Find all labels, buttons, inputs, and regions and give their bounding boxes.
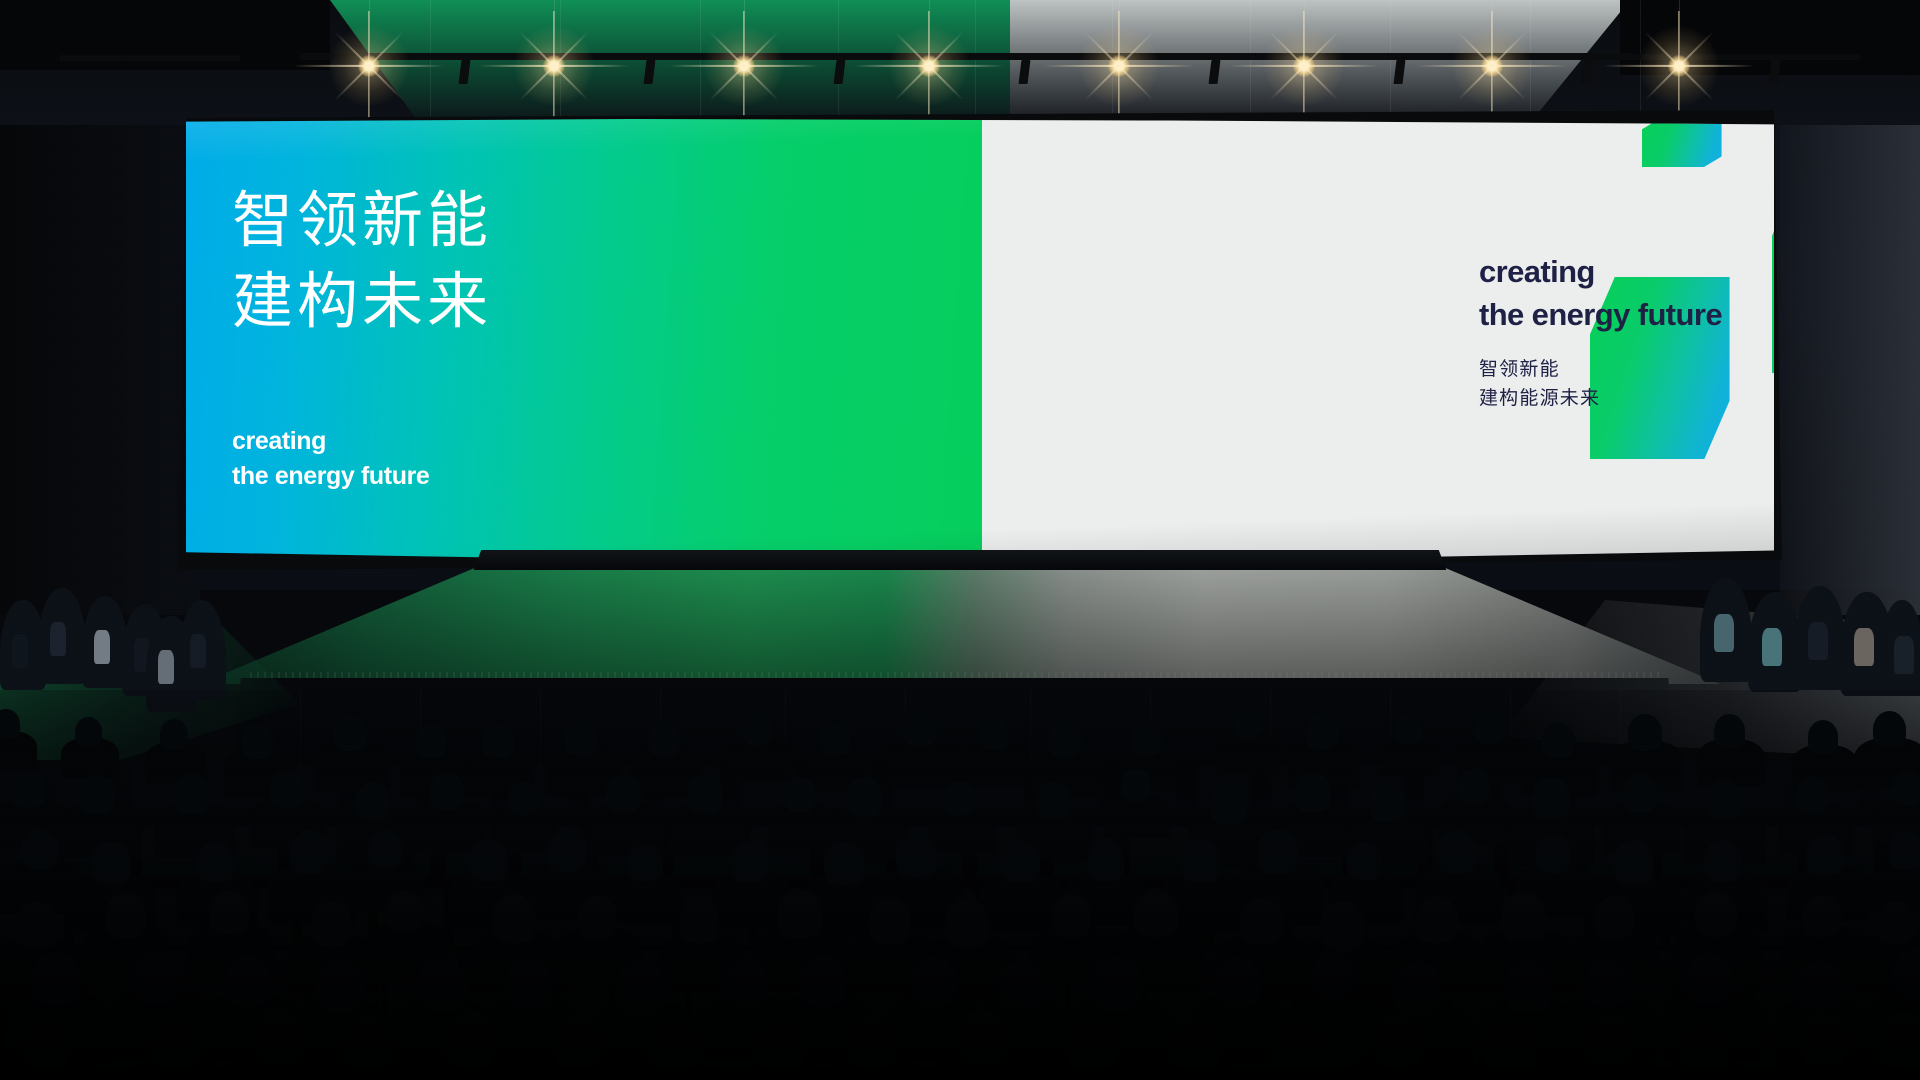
audience-head (1706, 779, 1742, 819)
audience-head (429, 772, 464, 811)
audience-head (777, 889, 822, 938)
audience-head (755, 1022, 804, 1076)
audience-head (1347, 842, 1382, 881)
left-headline-line2: 建构未来 (232, 262, 492, 343)
audience-head (547, 829, 586, 872)
right-panel-copy: creating the energy future 智领新能 建构能源未来 (1479, 251, 1722, 413)
guest-shirt (190, 634, 206, 668)
audience-head (342, 1016, 394, 1073)
audience-head (1798, 961, 1842, 1009)
audience-head (75, 717, 101, 746)
guest-shirt (1808, 622, 1828, 660)
guest-shirt (12, 634, 28, 668)
audience-head (1686, 953, 1733, 1004)
audience-head (368, 830, 402, 868)
audience-head (1595, 896, 1634, 939)
audience-head (1294, 772, 1330, 812)
right-headline: creating the energy future (1479, 251, 1722, 337)
audience-head (1210, 782, 1247, 823)
right-headline-line1: creating (1479, 251, 1722, 294)
audience-head (1131, 723, 1161, 756)
audience-head (606, 774, 641, 813)
audience-head (1879, 1012, 1920, 1071)
audience-head (800, 956, 846, 1006)
spotlight-lamp-5 (1108, 55, 1130, 77)
audience-head (1121, 768, 1151, 801)
guest-shirt (158, 650, 174, 684)
truss-segment-left (60, 55, 240, 61)
audience-head (134, 951, 181, 1003)
audience-head (443, 1010, 496, 1069)
audience-head (1234, 711, 1261, 741)
audience-head (945, 899, 989, 947)
audience-head (1271, 1023, 1325, 1080)
audience-head (1889, 831, 1920, 870)
audience-head (944, 781, 975, 815)
audience-head (577, 895, 617, 939)
guest-shirt (1714, 614, 1734, 652)
audience-head (1877, 901, 1916, 944)
audience-head (0, 709, 20, 739)
audience-head (32, 953, 79, 1005)
audience-head (1891, 771, 1920, 806)
audience-head (1586, 959, 1628, 1005)
audience-head (680, 899, 719, 942)
audience-head (15, 902, 57, 949)
spotlight-lamp-2 (543, 55, 565, 77)
left-headline-line1: 智领新能 (232, 181, 492, 262)
audience-head (269, 771, 303, 808)
guest-shirt (94, 630, 110, 664)
audience-head (617, 960, 667, 1015)
audience-head (417, 958, 466, 1012)
audience-head (385, 890, 423, 932)
audience-head (1800, 1012, 1849, 1066)
audience-head (1679, 1020, 1730, 1076)
stage-scene: creating the energy future 智领新能 建构能源未来 智… (0, 0, 1920, 1080)
audience-head (1257, 829, 1299, 875)
wall-seam (975, 0, 976, 120)
left-panel-tagline: creating the energy future (232, 424, 429, 493)
audience-head (356, 782, 391, 820)
audience-head (1087, 840, 1124, 881)
audience-head (1458, 768, 1491, 804)
guest-shirt (1854, 628, 1874, 666)
audience-head (1036, 781, 1070, 819)
wall-seam (430, 0, 431, 120)
audience-head (1873, 711, 1906, 748)
audience-head (1535, 834, 1571, 874)
audience-head (506, 958, 554, 1010)
audience-head (469, 838, 508, 881)
audience-head (1395, 714, 1422, 743)
spotlight-lamp-8 (1668, 55, 1690, 77)
audience-head (197, 842, 234, 882)
audience-head (1808, 720, 1838, 753)
hex-top-boundary-icon (1642, 119, 1722, 167)
audience-head (896, 833, 937, 879)
audience-head (731, 841, 769, 883)
audience-head (869, 898, 911, 944)
audience-head (998, 961, 1042, 1010)
audience-head (1312, 951, 1354, 998)
audience-head (1703, 840, 1742, 883)
audience-head (91, 841, 131, 885)
audience-head (1796, 776, 1830, 813)
wall-seam (1390, 0, 1391, 120)
audience-head (22, 1018, 70, 1071)
audience-head (743, 713, 773, 745)
audience-head (1803, 895, 1841, 937)
audience-head (1623, 774, 1658, 812)
audience-head (1501, 892, 1546, 941)
audience-head (1181, 839, 1221, 883)
spotlight-lamp-4 (918, 55, 940, 77)
audience-head (820, 722, 850, 755)
audience-head (209, 890, 249, 934)
left-tagline-line1: creating (232, 424, 429, 459)
audience-head (1505, 961, 1551, 1012)
audience-head (508, 781, 539, 815)
audience-head (1369, 782, 1405, 822)
audience-head (725, 959, 768, 1007)
right-subhead-line1: 智领新能 (1479, 355, 1722, 384)
audience-head (1052, 894, 1091, 937)
audience-head (911, 957, 956, 1006)
audience-head (1000, 840, 1039, 883)
audience-head (1374, 1014, 1423, 1068)
wall-seam (700, 0, 701, 120)
audience-head (687, 774, 722, 813)
audience-head (21, 828, 58, 868)
audience-head (290, 830, 330, 874)
audience-head (1613, 840, 1654, 885)
audience-head (784, 777, 816, 812)
wall-left-shadow (0, 95, 200, 615)
audience-head (315, 960, 363, 1013)
spotlight-lamp-3 (733, 55, 755, 77)
right-subhead-line2: 建构能源未来 (1479, 384, 1722, 413)
audience-head (979, 717, 1009, 750)
audience-head (1532, 777, 1570, 819)
audience-head (416, 723, 447, 757)
audience-head (311, 901, 352, 947)
audience-head (1628, 714, 1662, 751)
audience-head (79, 775, 115, 815)
audience-head (1483, 1018, 1537, 1077)
audience-head (1092, 957, 1141, 1011)
audience-head (11, 771, 45, 808)
right-headline-line2: the energy future (1479, 294, 1722, 337)
audience-head (492, 894, 536, 943)
spotlight-lamp-1 (358, 55, 380, 77)
audience-head (565, 719, 598, 756)
audience-head (160, 719, 188, 750)
audience-head (1214, 957, 1259, 1007)
audience-head (1394, 962, 1443, 1016)
audience-head (150, 1018, 200, 1073)
left-panel-headline: 智领新能 建构未来 (232, 181, 492, 342)
audience-head (1048, 720, 1081, 757)
screen-right-panel: creating the energy future 智领新能 建构能源未来 (982, 119, 1774, 562)
guest-shirt (1894, 636, 1914, 674)
audience-head (1586, 1014, 1633, 1066)
audience-head (552, 1014, 602, 1068)
audience-head (824, 841, 864, 885)
guest-shirt (50, 622, 66, 656)
audience-head (648, 1020, 701, 1078)
wall-right-highlight (1780, 95, 1920, 615)
audience-head (1806, 834, 1844, 876)
audience-head (1695, 891, 1737, 937)
audience-head (1474, 709, 1506, 744)
audience-head (628, 844, 662, 881)
audience-head (957, 1010, 1007, 1065)
guest-shirt (1762, 628, 1782, 666)
audience-head (1416, 896, 1458, 942)
audience-head (253, 1008, 305, 1065)
audience-head (1320, 901, 1366, 951)
audience-head (334, 715, 367, 751)
auditorium-seating (0, 690, 1920, 1080)
audience-head (1168, 1018, 1221, 1076)
audience-head (1714, 714, 1745, 748)
audience-head (1240, 898, 1283, 946)
audience-head (482, 724, 514, 759)
audience-head (1542, 722, 1575, 758)
audience-head (174, 773, 211, 813)
right-subhead: 智领新能 建构能源未来 (1479, 355, 1722, 414)
audience-head (903, 708, 937, 745)
audience-head (1134, 889, 1178, 937)
hex-center-large-icon (1772, 173, 1774, 373)
spotlight-lamp-6 (1293, 55, 1315, 77)
audience-head (1437, 830, 1477, 874)
audience-head (241, 723, 273, 758)
audience-head (1305, 714, 1337, 749)
audience-head (225, 956, 270, 1006)
audience-head (847, 1016, 897, 1071)
audience-head (846, 777, 883, 817)
audience-head (1066, 1017, 1118, 1074)
audience-head (648, 721, 680, 757)
left-tagline-line2: the energy future (232, 459, 429, 494)
led-screen[interactable]: creating the energy future 智领新能 建构能源未来 智… (186, 119, 1774, 562)
wall-seam (1250, 0, 1251, 120)
spotlight-lamp-7 (1481, 55, 1503, 77)
audience-head (105, 892, 146, 937)
